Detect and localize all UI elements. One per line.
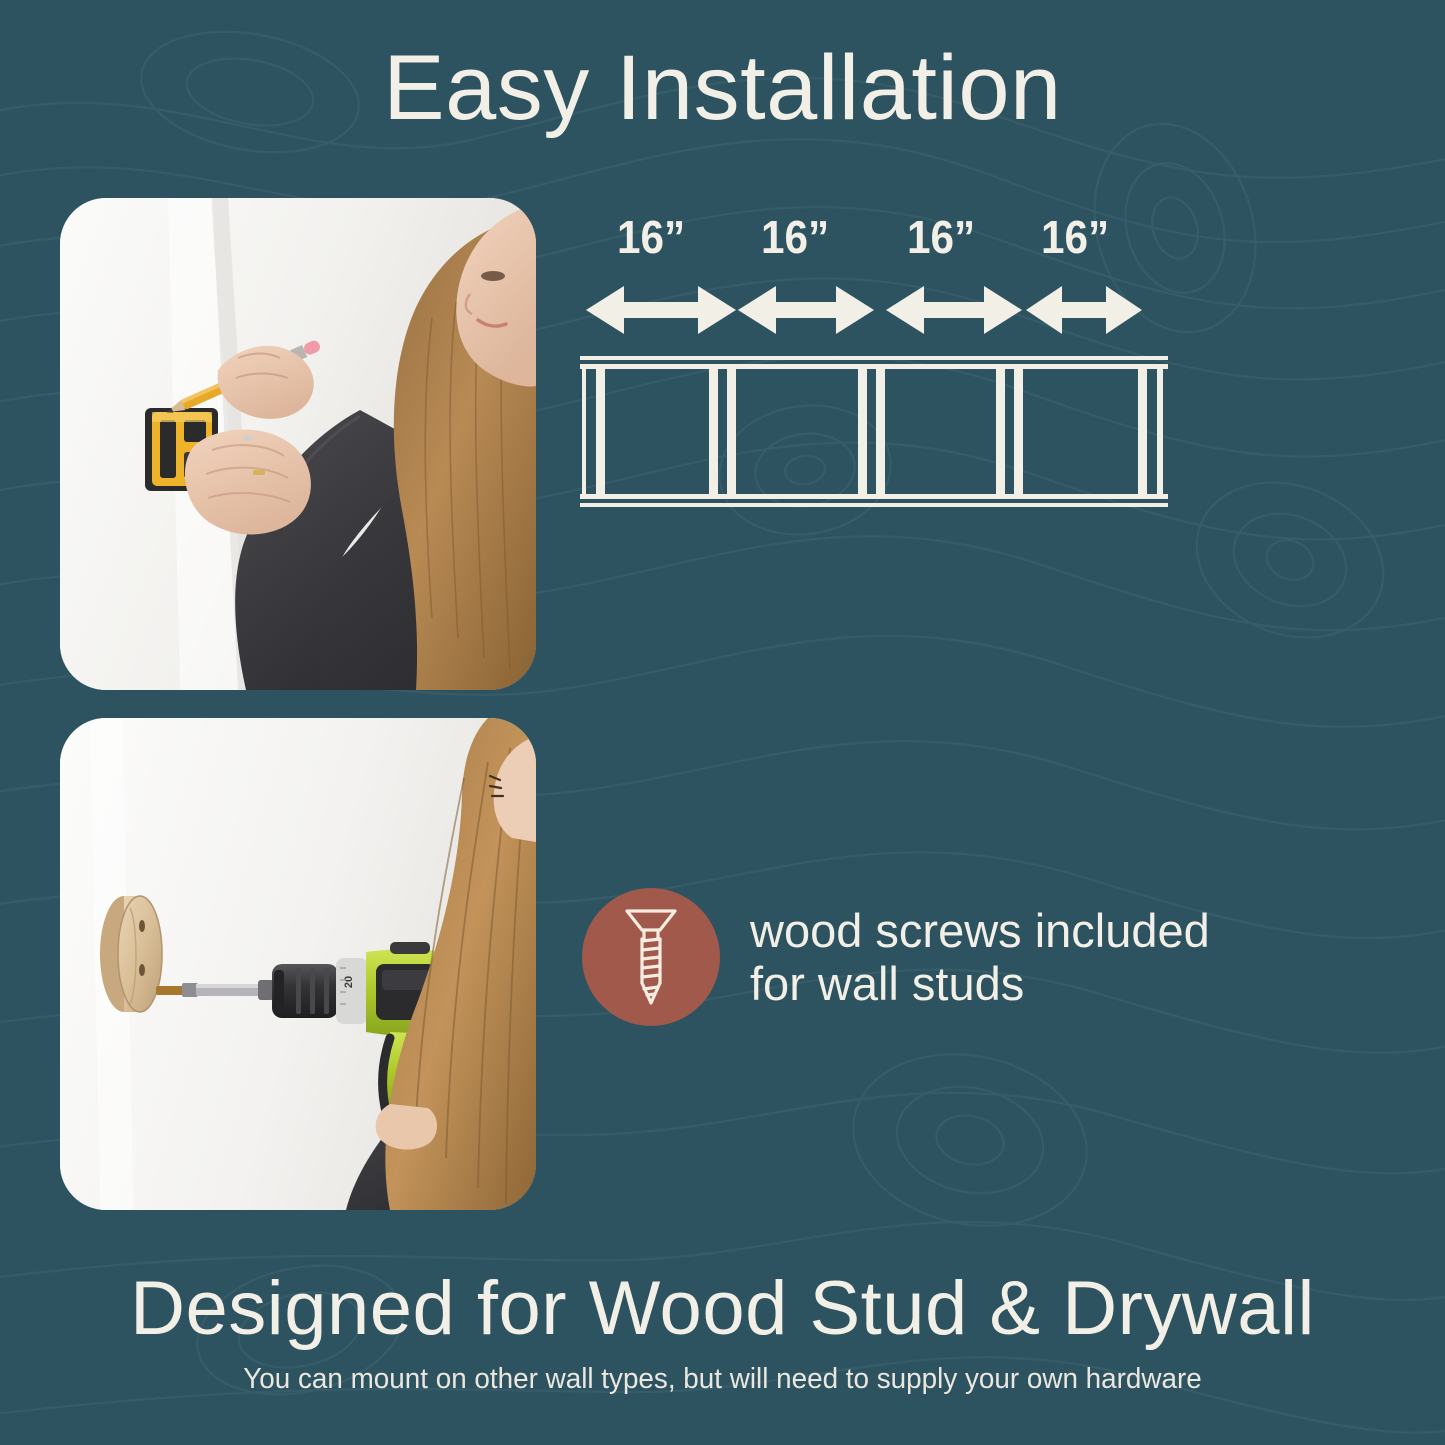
stud-4 bbox=[996, 369, 1023, 494]
page-title: Easy Installation bbox=[0, 36, 1445, 140]
wood-screws-label: wood screws included for wall studs bbox=[750, 904, 1210, 1010]
stud-1 bbox=[582, 369, 605, 494]
footer-title: Designed for Wood Stud & Drywall bbox=[0, 1266, 1445, 1352]
footer-subtext: You can mount on other wall types, but w… bbox=[29, 1362, 1416, 1396]
stud-3 bbox=[858, 369, 885, 494]
svg-text:20: 20 bbox=[343, 976, 355, 988]
dimension-arrow-3 bbox=[886, 286, 1022, 334]
wood-screws-feature: wood screws included for wall studs bbox=[582, 886, 1342, 1028]
stud-5 bbox=[1138, 369, 1163, 494]
photo-drilling-wood-disc-into-wall: 20 bbox=[60, 718, 536, 1210]
screw-badge bbox=[582, 888, 720, 1026]
photo-marking-wall-with-stud-finder bbox=[60, 198, 536, 690]
dimension-label-4: 16” bbox=[1041, 214, 1109, 260]
dimension-label-2: 16” bbox=[761, 214, 829, 260]
dimension-label-3: 16” bbox=[907, 214, 975, 260]
dimension-arrow-1 bbox=[586, 286, 736, 334]
dimension-label-1: 16” bbox=[617, 214, 685, 260]
dimension-arrow-4 bbox=[1026, 286, 1142, 334]
dimension-arrow-2 bbox=[738, 286, 874, 334]
infographic-page: Easy Installation bbox=[0, 0, 1445, 1445]
stud-2 bbox=[709, 369, 736, 494]
wood-screw-icon bbox=[619, 905, 683, 1009]
stud-wall-frame bbox=[580, 356, 1168, 507]
wall-stud-spacing-diagram: 16” 16” 16” 16” bbox=[576, 208, 1172, 648]
